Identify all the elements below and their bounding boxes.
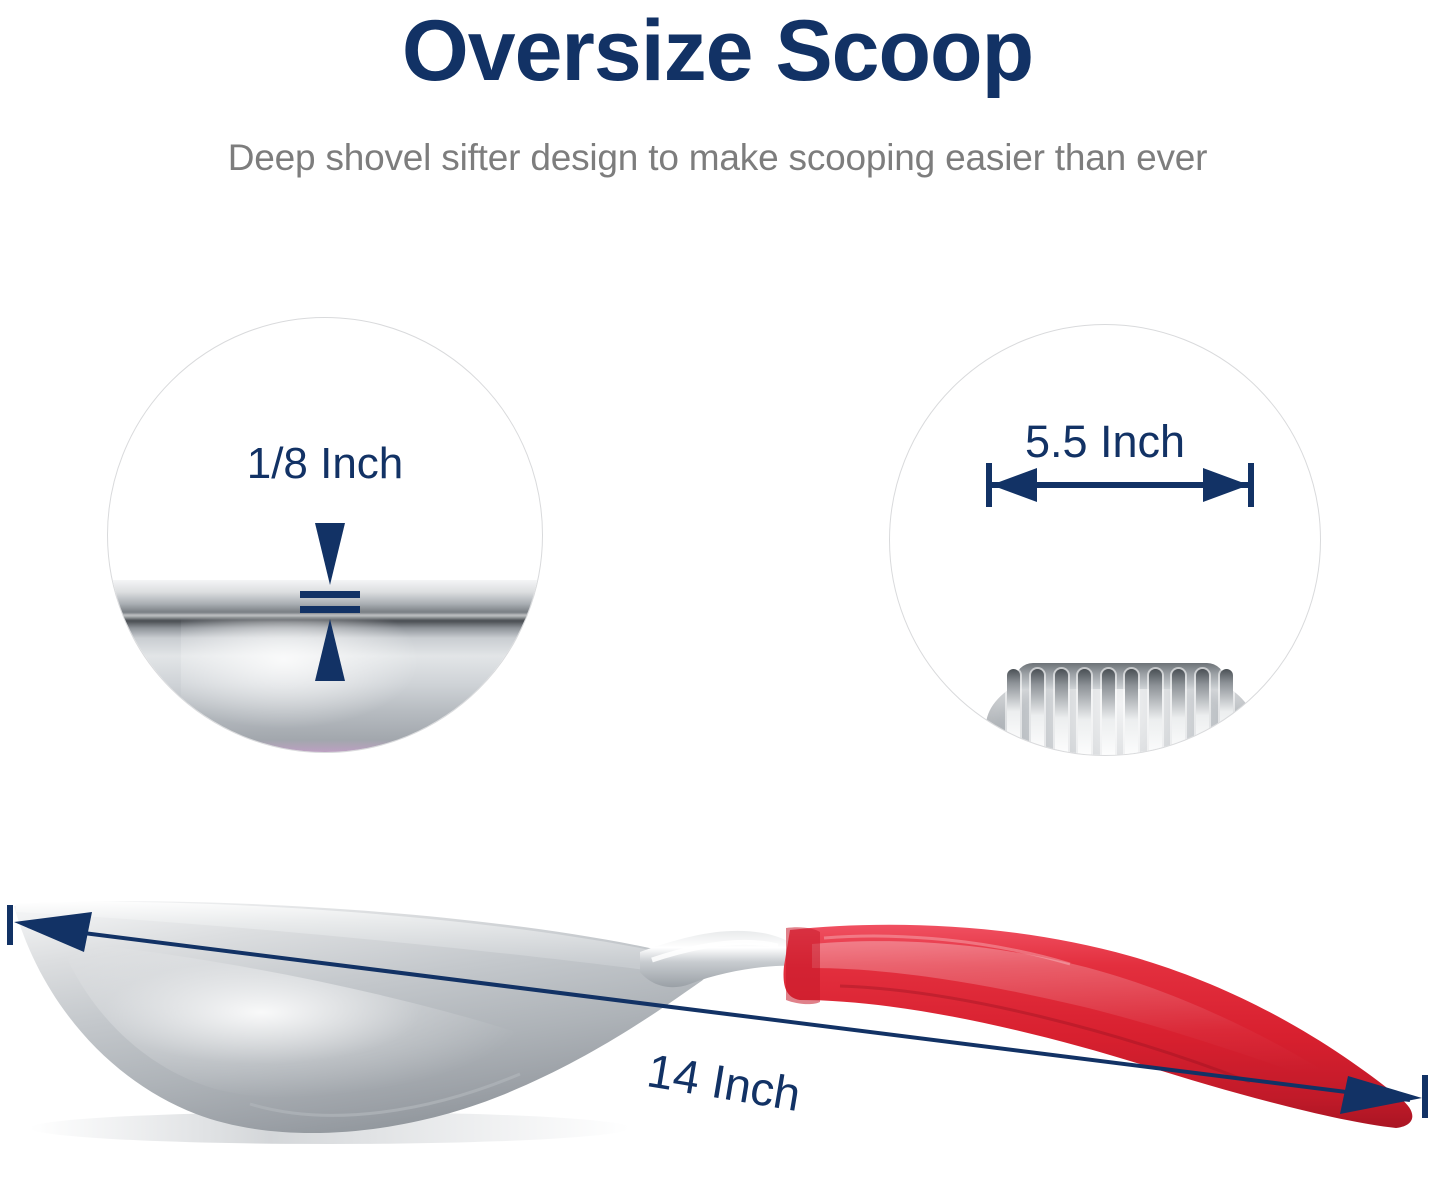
sifter-slot [1078, 669, 1091, 756]
thickness-gap-marker-icon [300, 585, 360, 619]
infographic-page: Oversize Scoop Deep shovel sifter design… [0, 0, 1435, 1190]
sifter-slot [1125, 669, 1138, 756]
width-dimension-arrow-icon [986, 463, 1254, 507]
arrow-triangle-down-icon [315, 523, 345, 585]
sifter-slot [1055, 669, 1068, 756]
sifter-slot [1007, 669, 1020, 756]
sifter-slot [1196, 669, 1209, 756]
thickness-label: 1/8 Inch [108, 442, 542, 486]
thickness-callout-circle: 1/8 Inch [107, 317, 543, 753]
page-title: Oversize Scoop [0, 0, 1435, 94]
arrow-head-left-icon [991, 468, 1037, 502]
scoop-illustration [0, 860, 1435, 1190]
thickness-dimension-arrow-icon [310, 523, 350, 681]
sifter-scoop-head-photo [986, 663, 1254, 756]
header: Oversize Scoop Deep shovel sifter design… [0, 0, 1435, 179]
scoop-neck [640, 931, 802, 987]
product-photo [0, 860, 1435, 1190]
sifter-slot [1220, 669, 1233, 756]
sifter-slot [1149, 669, 1162, 756]
page-subtitle: Deep shovel sifter design to make scoopi… [0, 94, 1435, 179]
width-label: 5.5 Inch [890, 419, 1320, 464]
sifter-slot [1172, 669, 1185, 756]
sifter-slot-group [1007, 669, 1232, 756]
sifter-slot [1102, 669, 1115, 756]
arrow-triangle-up-icon [315, 619, 345, 681]
arrow-head-right-icon [1203, 468, 1249, 502]
handle-collar [786, 927, 820, 1004]
sifter-slot [1031, 669, 1044, 756]
width-callout-circle: 5.5 Inch [889, 324, 1321, 756]
